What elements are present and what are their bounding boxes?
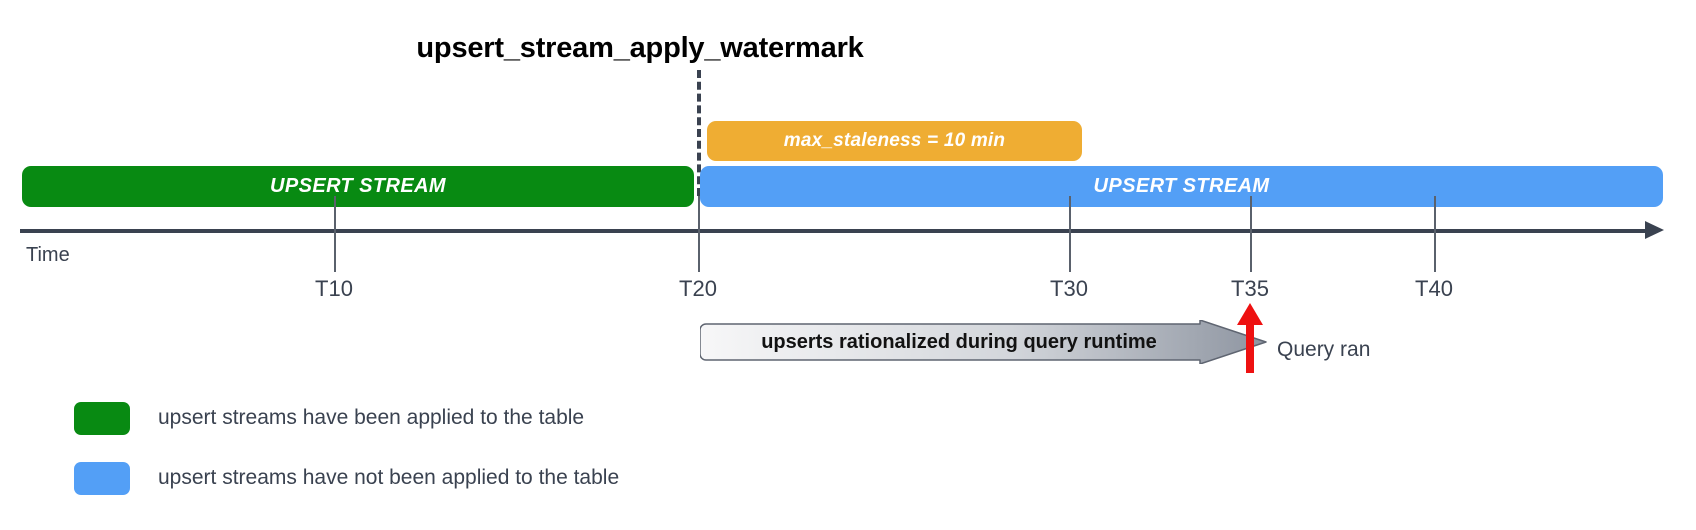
- axis-tick-label-t35: T35: [1231, 276, 1269, 302]
- legend: upsert streams have been applied to the …: [74, 388, 619, 508]
- rationalized-banner-arrow-icon: [700, 320, 1270, 364]
- legend-item-not-applied: upsert streams have not been applied to …: [74, 448, 619, 508]
- query-ran-label: Query ran: [1277, 338, 1370, 362]
- max-staleness-label: max_staleness = 10 min: [784, 130, 1005, 152]
- upsert-stream-applied-bar: UPSERT STREAM: [22, 166, 694, 207]
- max-staleness-bar: max_staleness = 10 min: [707, 121, 1082, 161]
- time-axis-caption: Time: [26, 244, 70, 267]
- axis-tick-label-t30: T30: [1050, 276, 1088, 302]
- legend-item-applied: upsert streams have been applied to the …: [74, 388, 619, 448]
- query-ran-arrow-icon: [1236, 303, 1264, 373]
- page-title: upsert_stream_apply_watermark: [0, 32, 1280, 65]
- upsert-stream-applied-label: UPSERT STREAM: [270, 175, 446, 198]
- legend-label-applied: upsert streams have been applied to the …: [158, 406, 584, 430]
- upsert-stream-not-applied-label: UPSERT STREAM: [1094, 175, 1270, 198]
- axis-tick-t30: [1069, 196, 1071, 272]
- time-axis-arrow-icon: [1645, 221, 1664, 239]
- legend-label-not-applied: upsert streams have not been applied to …: [158, 466, 619, 490]
- axis-tick-label-t40: T40: [1415, 276, 1453, 302]
- legend-swatch-blue: [74, 462, 130, 495]
- axis-tick-label-t10: T10: [315, 276, 353, 302]
- axis-tick-t35: [1250, 196, 1252, 272]
- axis-tick-label-t20: T20: [679, 276, 717, 302]
- axis-tick-t10: [334, 196, 336, 272]
- upsert-stream-not-applied-bar: UPSERT STREAM: [700, 166, 1663, 207]
- time-axis-line: [20, 229, 1650, 233]
- diagram-canvas: upsert_stream_apply_watermark max_stalen…: [0, 0, 1696, 530]
- legend-swatch-green: [74, 402, 130, 435]
- axis-tick-t20: [698, 196, 700, 272]
- axis-tick-t40: [1434, 196, 1436, 272]
